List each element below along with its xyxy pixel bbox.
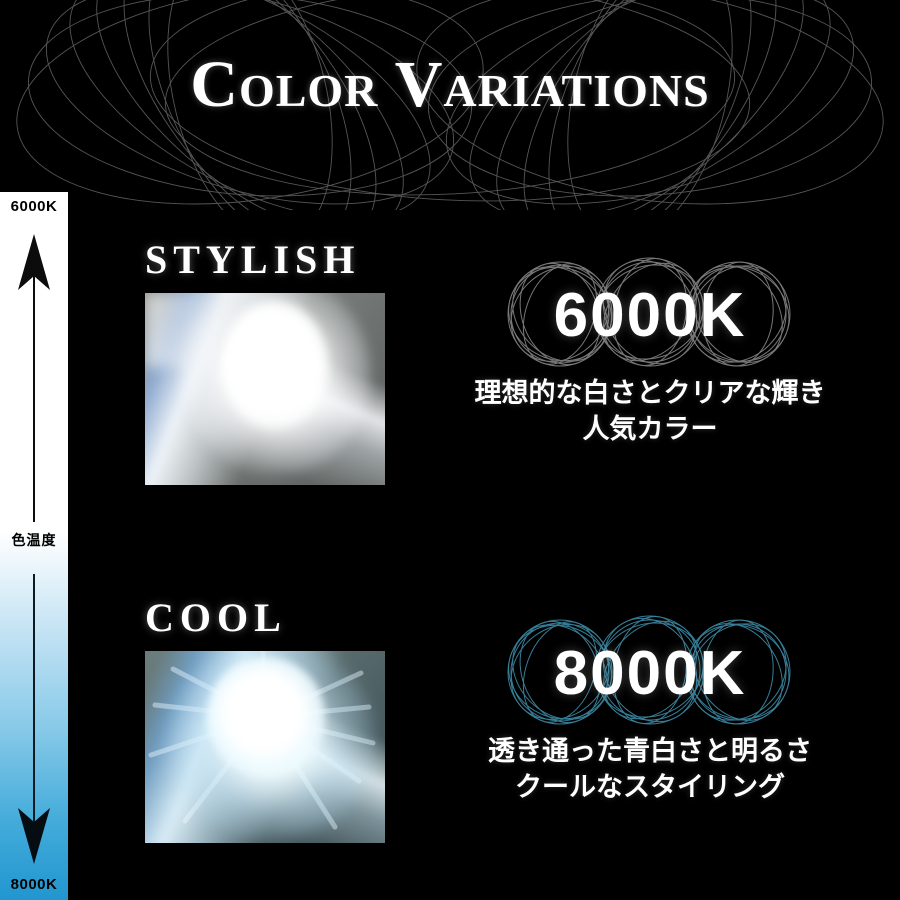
kelvin-description-line2: 人気カラー (410, 412, 890, 448)
kelvin-description-line1: 透き通った青白さと明るさ (410, 734, 890, 770)
category-label-cool: COOL (145, 598, 287, 638)
hid-bulb-photo-8000k (145, 651, 385, 843)
hid-bulb-photo-6000k (145, 293, 385, 485)
kelvin-block-8000k: 8000K 透き通った青白さと明るさ クールなスタイリング (410, 618, 890, 806)
kelvin-description-line2: クールなスタイリング (410, 770, 890, 806)
photo-glow-core (223, 301, 327, 429)
scale-bottom-label: 8000K (0, 876, 68, 893)
color-variations-banner: Color Variations 6000K 色温度 8000K STYLISH (0, 0, 900, 900)
scale-top-label: 6000K (0, 198, 68, 215)
page-title: Color Variations (0, 52, 900, 118)
kelvin-block-6000k: 6000K 理想的な白さとクリアな輝き 人気カラー (410, 260, 890, 448)
photo-glow-core (207, 657, 325, 777)
kelvin-description-line1: 理想的な白さとクリアな輝き (410, 376, 890, 412)
variation-row-cool: COOL (0, 598, 900, 858)
kelvin-value-6000k: 6000K (410, 260, 890, 372)
category-label-stylish: STYLISH (145, 240, 360, 280)
scale-mid-label: 色温度 (0, 530, 68, 550)
kelvin-value-8000k: 8000K (410, 618, 890, 730)
kelvin-description-6000k: 理想的な白さとクリアな輝き 人気カラー (410, 376, 890, 448)
variation-row-stylish: STYLISH (0, 240, 900, 500)
kelvin-description-8000k: 透き通った青白さと明るさ クールなスタイリング (410, 734, 890, 806)
